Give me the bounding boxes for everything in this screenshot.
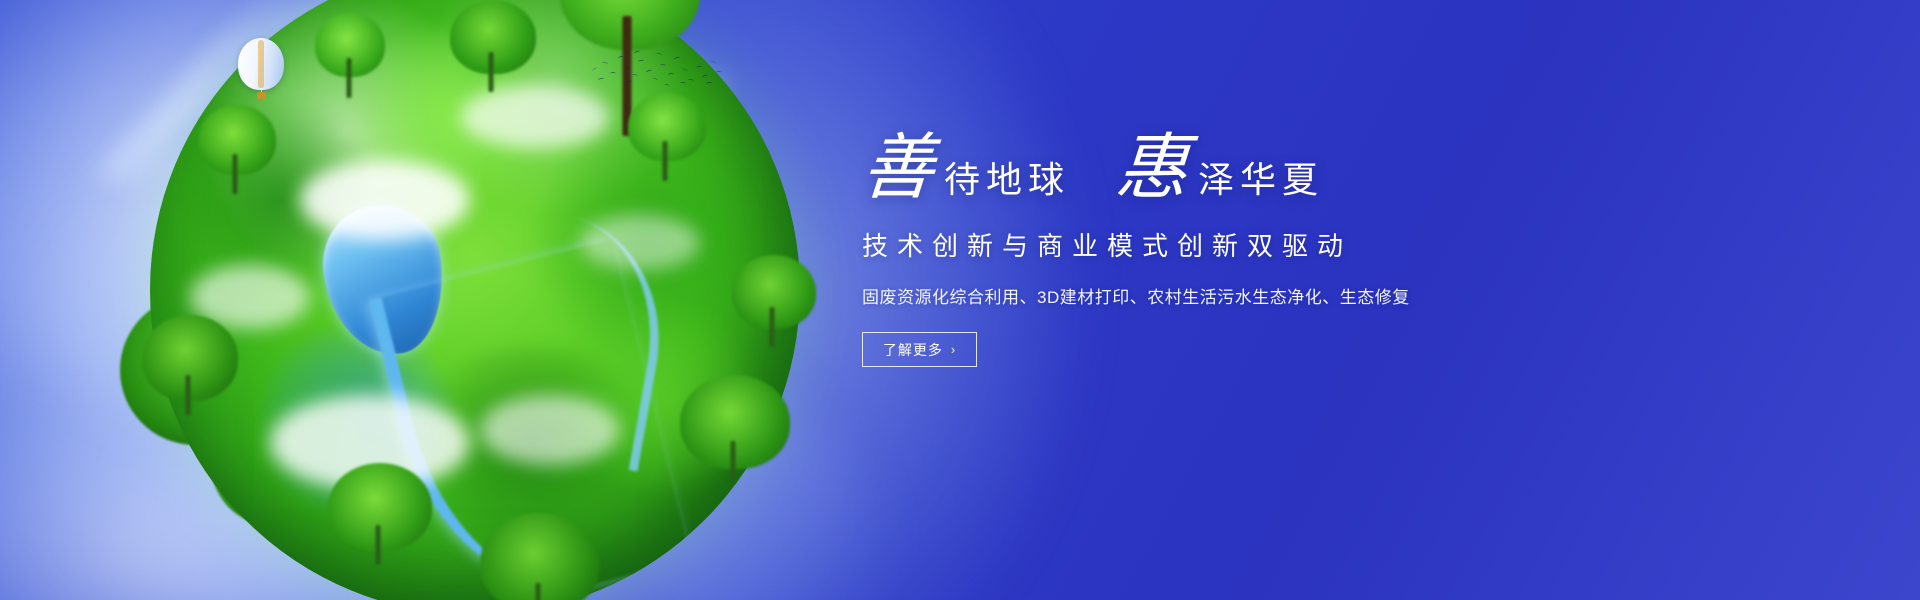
hero-description: 固废资源化综合利用、3D建材打印、农村生活污水生态净化、生态修复 bbox=[862, 283, 1762, 308]
bird-icon bbox=[680, 82, 686, 85]
bird-icon bbox=[696, 66, 702, 70]
learn-more-button[interactable]: 了解更多 › bbox=[862, 332, 977, 367]
balloon-stripe bbox=[258, 40, 264, 88]
bird-icon bbox=[716, 71, 722, 74]
tree-icon bbox=[315, 13, 385, 77]
bird-icon bbox=[656, 52, 663, 56]
headline-char-1: 善 bbox=[859, 132, 938, 204]
birds-flock-icon bbox=[590, 48, 720, 90]
bird-icon bbox=[624, 66, 631, 71]
cloud-puff bbox=[480, 395, 620, 465]
bird-icon bbox=[602, 61, 608, 65]
bird-icon bbox=[592, 67, 599, 72]
bird-icon bbox=[610, 72, 616, 75]
tree-icon bbox=[450, 0, 536, 74]
headline-part-1: 待地球 bbox=[944, 162, 1070, 198]
bird-icon bbox=[626, 80, 633, 85]
learn-more-label: 了解更多 bbox=[883, 340, 943, 360]
hero-text-block: 善 待地球 惠 泽华夏 技术创新与商业模式创新双驱动 固废资源化综合利用、3D建… bbox=[862, 132, 1762, 367]
tree-icon bbox=[628, 93, 706, 161]
headline-part-2: 泽华夏 bbox=[1198, 162, 1324, 198]
bird-icon bbox=[668, 73, 674, 77]
headline-char-2: 惠 bbox=[1114, 132, 1193, 204]
tree-icon bbox=[328, 463, 432, 551]
bird-icon bbox=[618, 55, 625, 59]
hero-banner: 善 待地球 惠 泽华夏 技术创新与商业模式创新双驱动 固废资源化综合利用、3D建… bbox=[0, 0, 1920, 600]
hot-air-balloon-icon bbox=[238, 38, 284, 98]
chevron-right-icon: › bbox=[951, 343, 956, 356]
bird-icon bbox=[710, 60, 717, 65]
bird-icon bbox=[664, 83, 671, 87]
bird-icon bbox=[660, 64, 666, 68]
cloud-puff bbox=[300, 160, 470, 240]
bird-icon bbox=[598, 78, 604, 82]
bird-icon bbox=[652, 77, 659, 82]
bird-icon bbox=[646, 69, 653, 74]
balloon-basket bbox=[257, 92, 266, 99]
tree-icon bbox=[680, 375, 790, 469]
page-title: 善 待地球 惠 泽华夏 bbox=[862, 132, 1762, 204]
tree-icon bbox=[198, 105, 276, 175]
tree-icon bbox=[142, 315, 238, 401]
cloud-puff bbox=[460, 85, 610, 149]
bird-icon bbox=[634, 50, 641, 55]
cloud-puff bbox=[580, 215, 700, 270]
bird-icon bbox=[674, 56, 681, 61]
hero-subtitle: 技术创新与商业模式创新双驱动 bbox=[862, 226, 1762, 263]
tree-icon bbox=[732, 255, 816, 329]
bird-icon bbox=[706, 81, 712, 85]
bird-icon bbox=[682, 68, 689, 73]
bird-icon bbox=[632, 74, 638, 78]
bird-icon bbox=[702, 74, 709, 79]
bird-icon bbox=[688, 79, 694, 83]
bird-icon bbox=[638, 60, 644, 63]
